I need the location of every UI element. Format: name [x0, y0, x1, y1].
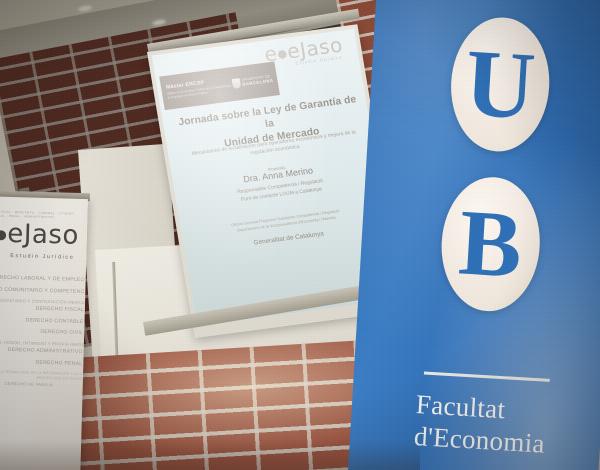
practice-areas-list: DERECHO LABORAL Y DE EMPLEO DERECHO COMU… — [0, 274, 88, 390]
practice-area-item: DERECHO SOCIETARIO Y CONTRATACIÓN MERCAN… — [0, 297, 87, 305]
ejaso-tagline-banner: Estudio Jurídico — [10, 253, 74, 261]
practice-area-item: DERECHO FISCAL — [0, 304, 87, 314]
faculty-title: Facultat d'Economia — [413, 389, 600, 464]
practice-area-item: DERECHO COMUNITARIO Y COMPETENCIA — [0, 286, 87, 296]
practice-area-item: DERECHO LABORAL Y DE EMPLEO — [0, 274, 88, 284]
practice-area-item: DERECHO ADMINISTRATIVO — [0, 346, 86, 356]
university-wordmark: UNIVERSITAT DE BARCELONA — [241, 74, 273, 87]
slide-header-band: Màster ERCSP Màster en Economia i Políti… — [159, 61, 280, 110]
university-logo: UNIVERSITAT DE BARCELONA — [231, 73, 278, 89]
practice-area-item: DERECHO CIVIL — [0, 327, 86, 337]
ejaso-brand-banner: eJaso — [7, 219, 79, 251]
floor-shadow — [0, 440, 420, 470]
practice-area-item: DERECHO AL HONOR, INTIMIDAD Y PROPIA IMA… — [0, 339, 86, 347]
ejaso-logo-banner: e●eJaso — [0, 218, 79, 251]
slide-master-block: Màster ERCSP Màster en Economia i Políti… — [161, 77, 234, 101]
ub-faculty-banner: U B Facultat d'Economia — [347, 0, 600, 470]
conference-room-photo: Màster ERCSP Màster en Economia i Políti… — [0, 0, 600, 470]
left-rollup-banner: LEGAL · FISCAL · MERCANTIL · LABORAL · L… — [0, 196, 88, 470]
ub-letter-b: B — [457, 195, 525, 293]
practice-area-item: DERECHO CONTABLE — [0, 316, 87, 326]
ub-letter-u: U — [463, 34, 538, 134]
practice-area-item: DERECHO PENAL — [0, 358, 85, 368]
